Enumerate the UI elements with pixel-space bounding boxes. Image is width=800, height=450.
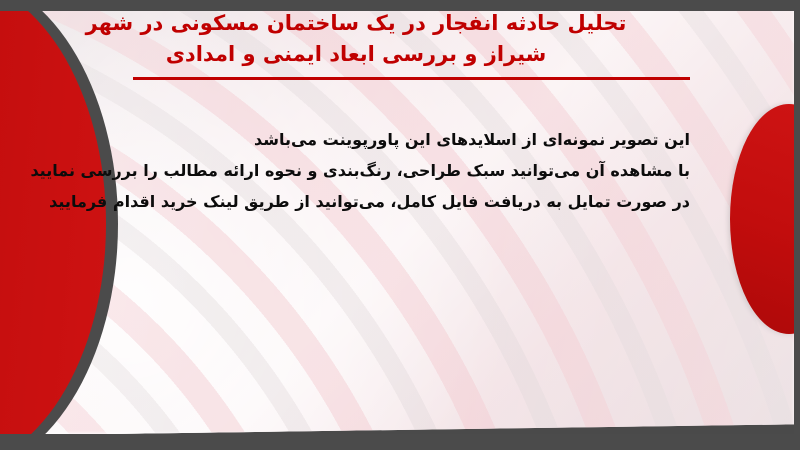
slide-title-line-1: تحلیل حادثه انفجار در یک ساختمان مسکونی …	[0, 8, 712, 39]
slide-frame-top-border	[0, 0, 800, 11]
body-text-line-3: در صورت تمایل به دریافت فایل کامل، می‌تو…	[130, 186, 690, 217]
body-text-line-2: با مشاهده آن می‌توانید سبک طراحی، رنگ‌بن…	[130, 155, 690, 186]
slide-frame-right-border	[794, 0, 800, 450]
presentation-slide: تحلیل حادثه انفجار در یک ساختمان مسکونی …	[0, 0, 800, 450]
slide-title: تحلیل حادثه انفجار در یک ساختمان مسکونی …	[0, 8, 712, 70]
title-underline-rule	[133, 77, 690, 80]
slide-body-text: این تصویر نمونه‌ای از اسلایدهای این پاور…	[130, 124, 690, 217]
background-inner-edge	[0, 10, 794, 435]
slide-frame-bottom-border	[0, 434, 800, 450]
body-text-line-1: این تصویر نمونه‌ای از اسلایدهای این پاور…	[130, 124, 690, 155]
slide-title-line-2: شیراز و بررسی ابعاد ایمنی و امدادی	[0, 39, 712, 70]
slide-background-panel	[0, 10, 794, 435]
